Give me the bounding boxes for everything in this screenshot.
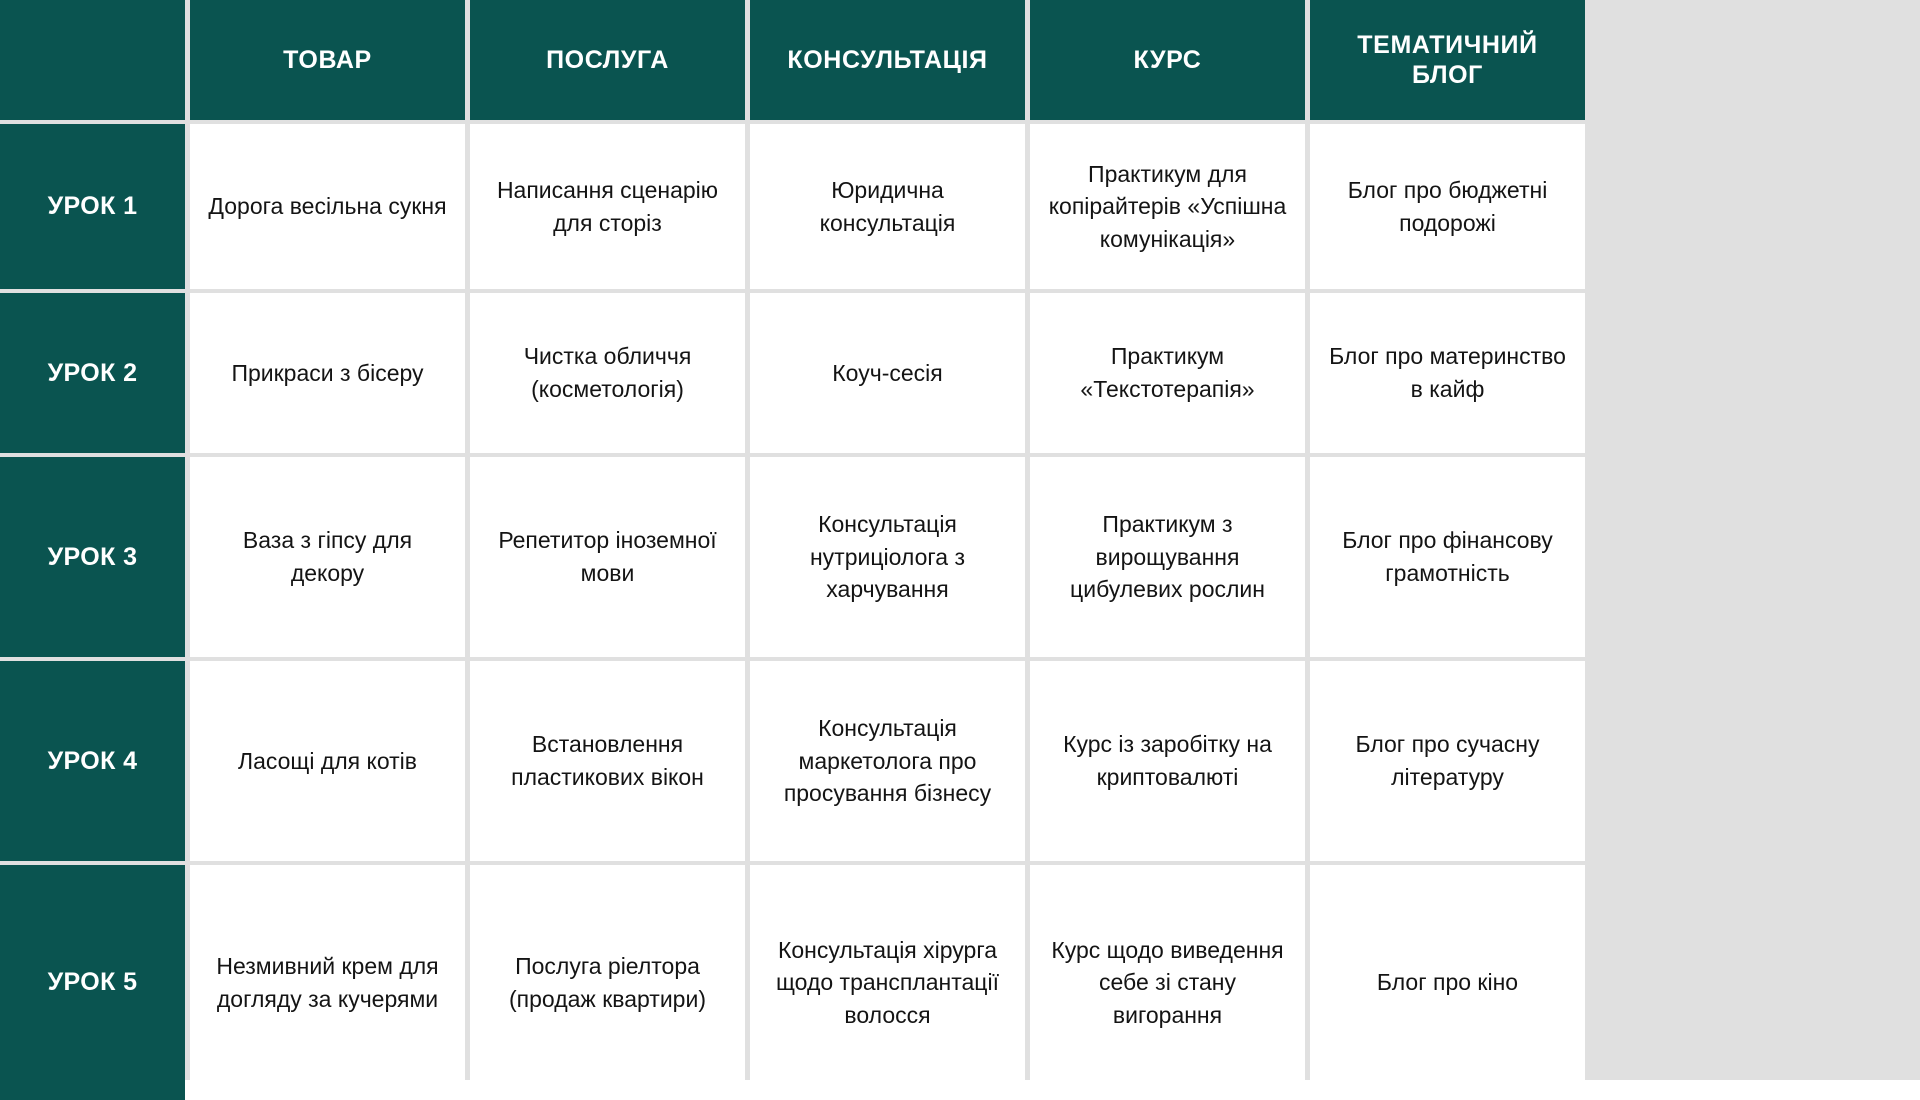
table-cell: Чистка обличчя (косметологія) <box>470 293 745 453</box>
table-cell: Консультація нутриціолога з харчування <box>750 457 1025 657</box>
row-header-label: УРОК 2 <box>6 359 179 388</box>
cell-text: Практикум «Текстотерапія» <box>1046 340 1289 405</box>
cell-text: Дорога весільна сукня <box>206 190 449 223</box>
cell-text: Чистка обличчя (косметологія) <box>486 340 729 405</box>
cell-text: Консультація маркетолога про просування … <box>766 712 1009 810</box>
table-cell: Блог про сучасну літературу <box>1310 661 1585 861</box>
column-header-tovar: ТОВАР <box>190 0 465 120</box>
cell-text: Консультація нутриціолога з харчування <box>766 508 1009 606</box>
column-header-tematychnyi-bloh: ТЕМАТИЧНИЙ БЛОГ <box>1310 0 1585 120</box>
table-cell: Послуга ріелтора (продаж квартири) <box>470 865 745 1100</box>
table-cell: Ваза з гіпсу для декору <box>190 457 465 657</box>
cell-text: Блог про материнство в кайф <box>1326 340 1569 405</box>
table-corner-cell <box>0 0 185 120</box>
table-cell: Блог про фінансову грамотність <box>1310 457 1585 657</box>
lessons-table: ТОВАР ПОСЛУГА КОНСУЛЬТАЦІЯ КУРС ТЕМАТИЧН… <box>0 0 1920 1080</box>
row-header-lesson-4: УРОК 4 <box>0 661 185 861</box>
cell-text: Незмивний крем для догляду за кучерями <box>206 950 449 1015</box>
column-header-label: КОНСУЛЬТАЦІЯ <box>760 45 1015 76</box>
table-cell: Блог про материнство в кайф <box>1310 293 1585 453</box>
column-header-label: ТОВАР <box>200 45 455 76</box>
cell-text: Практикум для копірайтерів «Успішна кому… <box>1046 158 1289 256</box>
table-cell: Репетитор іноземної мови <box>470 457 745 657</box>
table-cell: Практикум для копірайтерів «Успішна кому… <box>1030 124 1305 289</box>
column-header-label: ТЕМАТИЧНИЙ БЛОГ <box>1320 30 1575 91</box>
cell-text: Написання сценарію для сторіз <box>486 174 729 239</box>
cell-text: Блог про бюджетні подорожі <box>1326 174 1569 239</box>
row-header-label: УРОК 5 <box>6 968 179 997</box>
cell-text: Послуга ріелтора (продаж квартири) <box>486 950 729 1015</box>
row-header-lesson-3: УРОК 3 <box>0 457 185 657</box>
row-header-label: УРОК 4 <box>6 747 179 776</box>
table-cell: Практикум з вирощування цибулевих рослин <box>1030 457 1305 657</box>
column-header-label: КУРС <box>1040 45 1295 76</box>
table-cell: Написання сценарію для сторіз <box>470 124 745 289</box>
row-header-lesson-5: УРОК 5 <box>0 865 185 1100</box>
column-header-kurs: КУРС <box>1030 0 1305 120</box>
table-cell: Юридична консультація <box>750 124 1025 289</box>
table-cell: Прикраси з бісеру <box>190 293 465 453</box>
column-header-konsultatsiia: КОНСУЛЬТАЦІЯ <box>750 0 1025 120</box>
table-cell: Консультація маркетолога про просування … <box>750 661 1025 861</box>
table-cell: Блог про кіно <box>1310 865 1585 1100</box>
cell-text: Ласощі для котів <box>206 745 449 778</box>
row-header-label: УРОК 1 <box>6 192 179 221</box>
cell-text: Курс щодо виведення себе зі стану вигора… <box>1046 934 1289 1032</box>
table-cell: Дорога весільна сукня <box>190 124 465 289</box>
column-header-label: ПОСЛУГА <box>480 45 735 76</box>
cell-text: Блог про кіно <box>1326 966 1569 999</box>
column-header-posluha: ПОСЛУГА <box>470 0 745 120</box>
cell-text: Курс із заробітку на криптовалюті <box>1046 728 1289 793</box>
cell-text: Встановлення пластикових вікон <box>486 728 729 793</box>
cell-text: Ваза з гіпсу для декору <box>206 524 449 589</box>
table-cell: Коуч-сесія <box>750 293 1025 453</box>
cell-text: Блог про фінансову грамотність <box>1326 524 1569 589</box>
cell-text: Юридична консультація <box>766 174 1009 239</box>
table-cell: Курс щодо виведення себе зі стану вигора… <box>1030 865 1305 1100</box>
cell-text: Репетитор іноземної мови <box>486 524 729 589</box>
row-header-lesson-1: УРОК 1 <box>0 124 185 289</box>
cell-text: Блог про сучасну літературу <box>1326 728 1569 793</box>
table-cell: Незмивний крем для догляду за кучерями <box>190 865 465 1100</box>
row-header-label: УРОК 3 <box>6 543 179 572</box>
cell-text: Прикраси з бісеру <box>206 357 449 390</box>
table-cell: Встановлення пластикових вікон <box>470 661 745 861</box>
cell-text: Консультація хірурга щодо трансплантації… <box>766 934 1009 1032</box>
table-cell: Консультація хірурга щодо трансплантації… <box>750 865 1025 1100</box>
cell-text: Практикум з вирощування цибулевих рослин <box>1046 508 1289 606</box>
row-header-lesson-2: УРОК 2 <box>0 293 185 453</box>
table-cell: Блог про бюджетні подорожі <box>1310 124 1585 289</box>
table-cell: Курс із заробітку на криптовалюті <box>1030 661 1305 861</box>
table-cell: Практикум «Текстотерапія» <box>1030 293 1305 453</box>
table-cell: Ласощі для котів <box>190 661 465 861</box>
cell-text: Коуч-сесія <box>766 357 1009 390</box>
